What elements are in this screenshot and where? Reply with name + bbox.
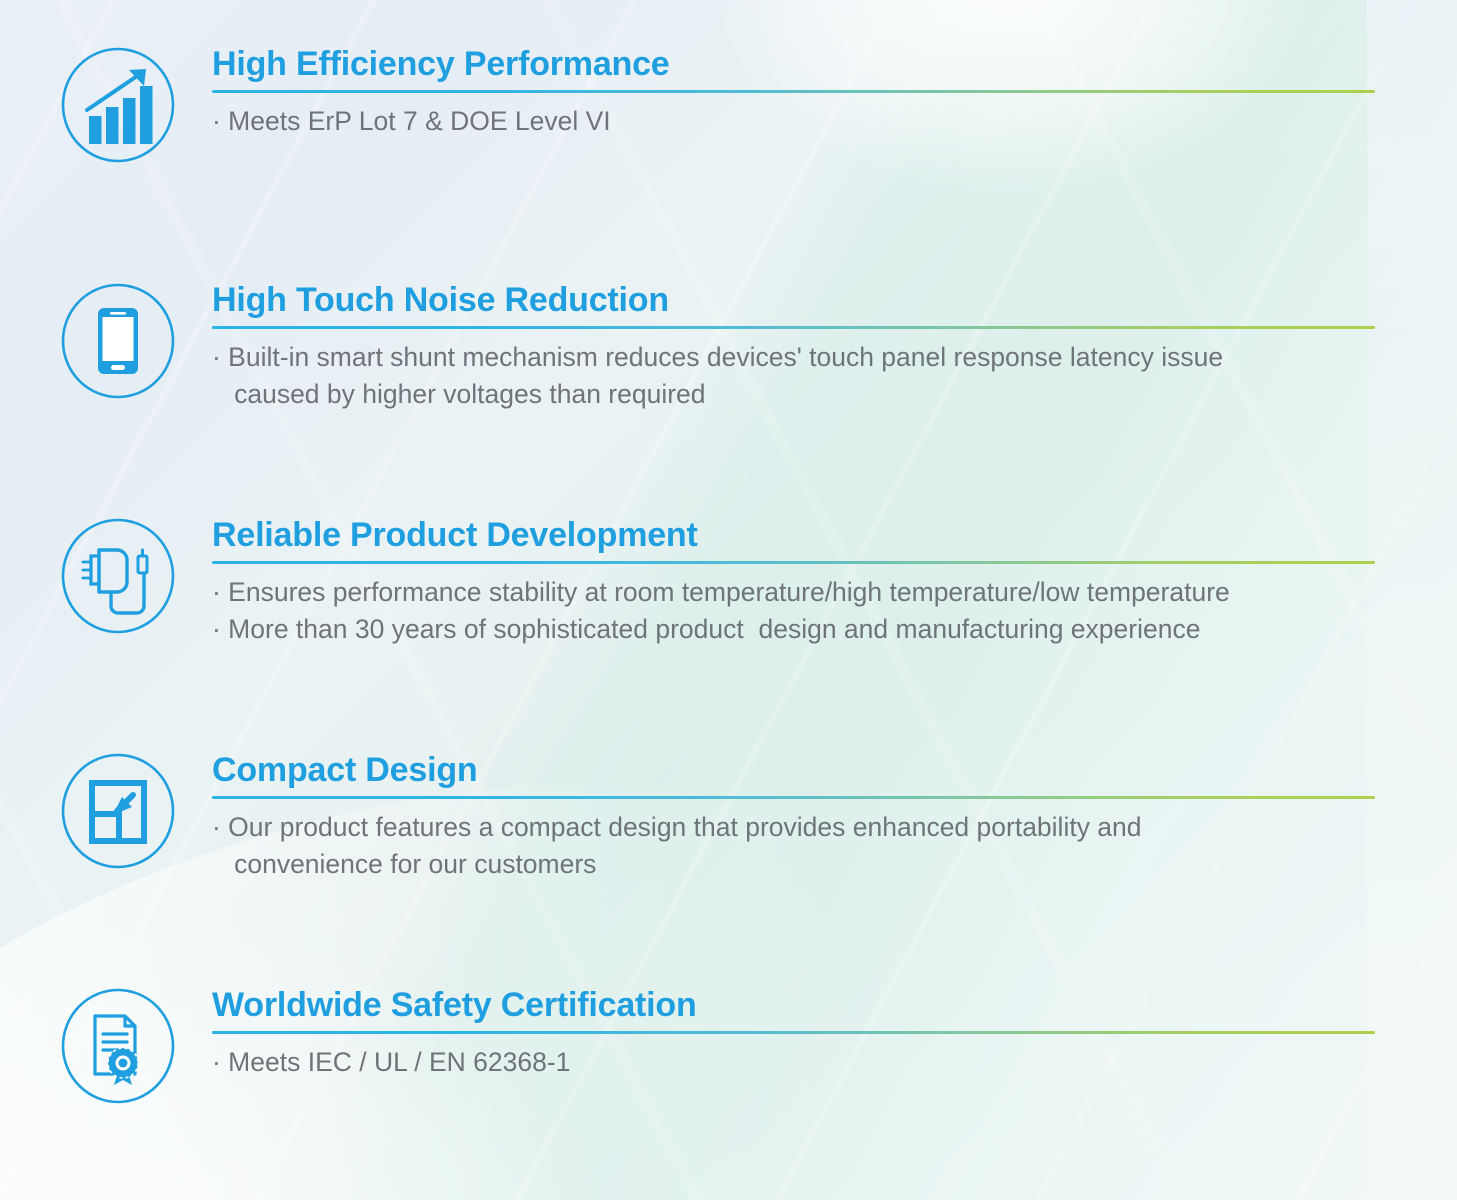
feature-content: High Touch Noise Reduction · Built-in sm… <box>212 280 1457 413</box>
smartphone-icon <box>59 282 177 400</box>
feature-bullets: · Ensures performance stability at room … <box>212 574 1391 648</box>
feature-title: Worldwide Safety Certification <box>212 985 1391 1025</box>
feature-bullet: · More than 30 years of sophisticated pr… <box>212 611 1391 648</box>
feature-title: High Efficiency Performance <box>212 44 1391 84</box>
feature-bullets: · Meets ErP Lot 7 & DOE Level VI <box>212 103 1391 140</box>
feature-divider <box>212 561 1375 564</box>
bar-chart-growth-icon <box>59 46 177 164</box>
feature-icon-container <box>58 44 178 164</box>
feature-content: Compact Design · Our product features a … <box>212 750 1457 883</box>
feature-content: Worldwide Safety Certification · Meets I… <box>212 985 1457 1081</box>
feature-bullets: · Our product features a compact design … <box>212 809 1391 883</box>
compact-resize-icon <box>59 752 177 870</box>
feature-bullets: · Built-in smart shunt mechanism reduces… <box>212 339 1391 413</box>
feature-icon-container <box>58 515 178 635</box>
feature-item-high-efficiency-performance: High Efficiency Performance · Meets ErP … <box>0 44 1457 164</box>
feature-icon-container <box>58 280 178 400</box>
feature-title: Compact Design <box>212 750 1391 790</box>
feature-divider <box>212 326 1375 329</box>
certificate-award-icon <box>59 987 177 1105</box>
feature-content: Reliable Product Development · Ensures p… <box>212 515 1457 648</box>
feature-icon-container <box>58 750 178 870</box>
feature-bullet: caused by higher voltages than required <box>212 376 1391 413</box>
feature-item-compact-design: Compact Design · Our product features a … <box>0 750 1457 883</box>
feature-divider <box>212 796 1375 799</box>
feature-bullet: · Ensures performance stability at room … <box>212 574 1391 611</box>
feature-title: High Touch Noise Reduction <box>212 280 1391 320</box>
feature-bullet: · Built-in smart shunt mechanism reduces… <box>212 339 1391 376</box>
feature-bullet: · Meets ErP Lot 7 & DOE Level VI <box>212 103 1391 140</box>
feature-bullet: convenience for our customers <box>212 846 1391 883</box>
infographic-canvas: High Efficiency Performance · Meets ErP … <box>0 0 1457 1200</box>
feature-icon-container <box>58 985 178 1105</box>
feature-bullet: · Our product features a compact design … <box>212 809 1391 846</box>
feature-title: Reliable Product Development <box>212 515 1391 555</box>
feature-bullets: · Meets IEC / UL / EN 62368-1 <box>212 1044 1391 1081</box>
feature-item-reliable-product-development: Reliable Product Development · Ensures p… <box>0 515 1457 648</box>
power-adapter-icon <box>59 517 177 635</box>
feature-divider <box>212 1031 1375 1034</box>
feature-content: High Efficiency Performance · Meets ErP … <box>212 44 1457 140</box>
feature-bullet: · Meets IEC / UL / EN 62368-1 <box>212 1044 1391 1081</box>
feature-item-worldwide-safety-certification: Worldwide Safety Certification · Meets I… <box>0 985 1457 1105</box>
feature-item-high-touch-noise-reduction: High Touch Noise Reduction · Built-in sm… <box>0 280 1457 413</box>
feature-divider <box>212 90 1375 93</box>
